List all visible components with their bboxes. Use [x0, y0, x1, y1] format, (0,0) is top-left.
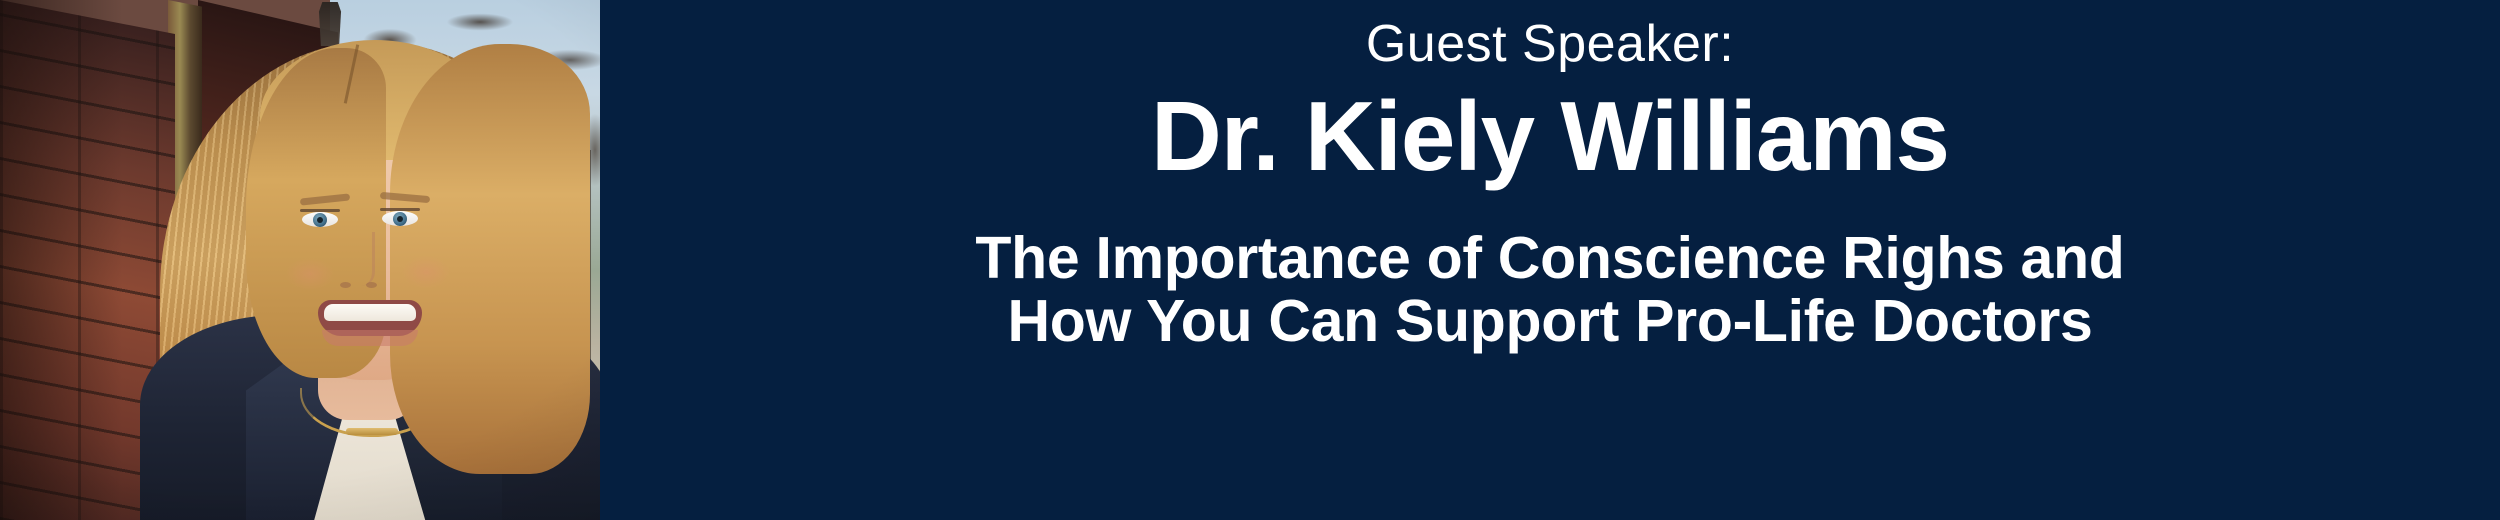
- text-panel: Guest Speaker: Dr. Kiely Williams The Im…: [600, 0, 2500, 520]
- nostril-right: [366, 282, 377, 288]
- eyelash-right: [380, 208, 420, 211]
- eyelash-left: [300, 209, 340, 212]
- iris-right: [393, 212, 407, 226]
- pupil-left: [317, 217, 323, 223]
- speaker-name: Dr. Kiely Williams: [1151, 85, 1949, 189]
- speaker-figure: [150, 0, 600, 520]
- guest-speaker-label: Guest Speaker:: [1366, 18, 1734, 71]
- cheek-right: [402, 256, 450, 288]
- iris-left: [313, 213, 327, 227]
- talk-title-line-2: How You Can Support Pro-Life Doctors: [975, 290, 2124, 353]
- speaker-photo: [0, 0, 600, 520]
- teeth: [324, 304, 416, 321]
- eye-right: [382, 211, 418, 226]
- talk-title: The Importance of Conscience Righs and H…: [975, 227, 2124, 353]
- talk-title-line-1: The Importance of Conscience Righs and: [975, 227, 2124, 290]
- pupil-right: [397, 216, 403, 222]
- cheek-left: [286, 258, 334, 290]
- eye-left: [302, 212, 338, 227]
- necklace-pendant: [346, 428, 398, 435]
- nose: [346, 232, 375, 286]
- nostril-left: [340, 282, 351, 288]
- guest-speaker-banner: Guest Speaker: Dr. Kiely Williams The Im…: [0, 0, 2500, 520]
- lower-lip: [322, 330, 418, 346]
